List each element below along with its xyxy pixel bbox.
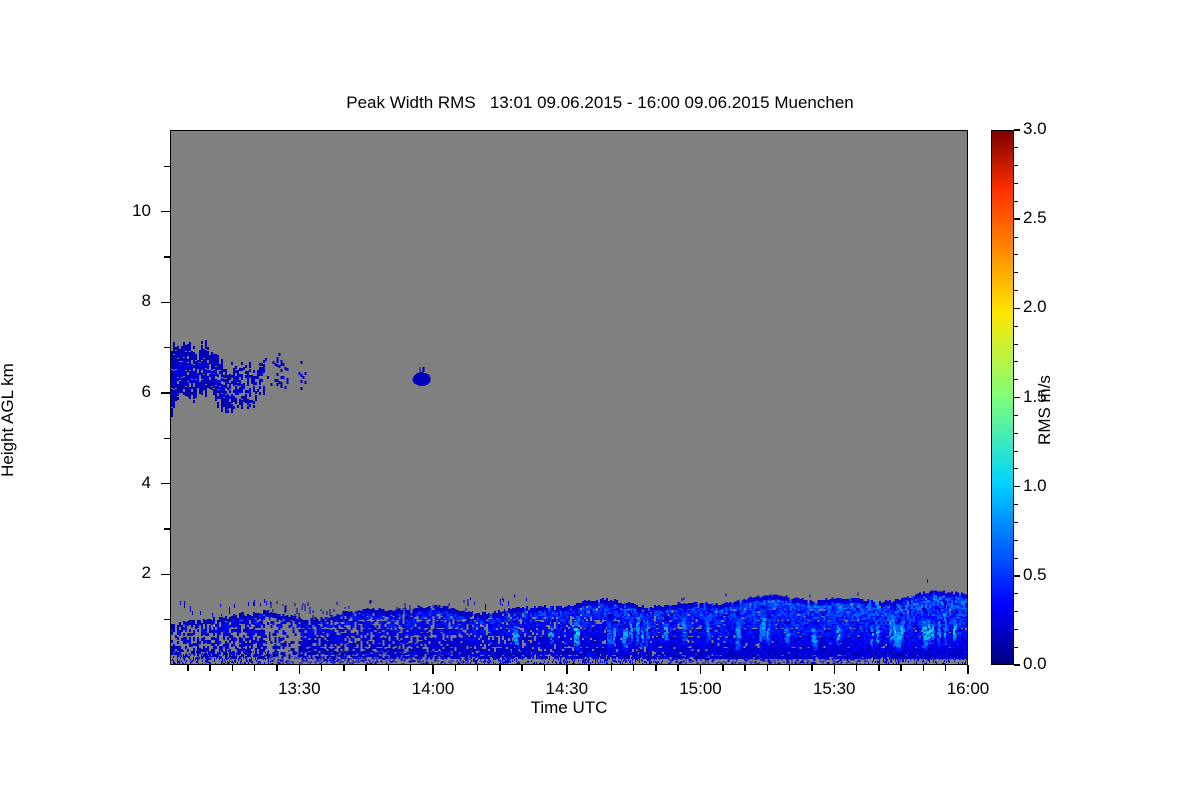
colorbar-minor-tick: [1014, 611, 1018, 612]
colorbar-minor-tick: [1014, 361, 1018, 362]
y-axis-minor-tick: [164, 166, 170, 168]
x-axis-tick-label: 14:00: [388, 679, 478, 699]
colorbar-tick-label: 3.0: [1023, 119, 1047, 139]
y-axis-tick: [161, 574, 170, 576]
colorbar-minor-tick: [1014, 183, 1018, 184]
x-axis-minor-tick: [789, 665, 791, 671]
colorbar-minor-tick: [1014, 290, 1018, 291]
y-axis-tick: [161, 302, 170, 304]
x-axis-tick-label: 13:30: [254, 679, 344, 699]
x-axis-minor-tick: [744, 665, 746, 671]
x-axis-tick-label: 14:30: [522, 679, 612, 699]
x-axis-tick-label: 15:30: [789, 679, 879, 699]
y-axis-tick: [161, 392, 170, 394]
x-axis-tick-label: 15:00: [656, 679, 746, 699]
y-axis-tick-label: 4: [91, 473, 151, 493]
colorbar-minor-tick: [1014, 344, 1018, 345]
colorbar-minor-tick: [1014, 522, 1018, 523]
x-axis-minor-tick: [521, 665, 523, 671]
colorbar-minor-tick: [1014, 147, 1018, 148]
colorbar-tick: [1014, 308, 1020, 310]
figure-canvas: Peak Width RMS 13:01 09.06.2015 - 16:00 …: [0, 0, 1200, 800]
x-axis-tick: [432, 665, 434, 674]
colorbar-tick: [1014, 129, 1020, 131]
colorbar-tick: [1014, 397, 1020, 399]
colorbar-minor-tick: [1014, 433, 1018, 434]
colorbar-minor-tick: [1014, 237, 1018, 238]
x-axis-minor-tick: [455, 665, 457, 671]
x-axis-minor-tick: [767, 665, 769, 671]
y-axis-minor-tick: [164, 528, 170, 530]
colorbar-tick: [1014, 575, 1020, 577]
x-axis-minor-tick: [187, 665, 189, 671]
colorbar: [991, 130, 1014, 665]
x-axis-tick: [700, 665, 702, 674]
x-axis-minor-tick: [477, 665, 479, 671]
y-axis-tick: [161, 483, 170, 485]
x-axis-tick: [834, 665, 836, 674]
y-axis-tick-label: 2: [91, 563, 151, 583]
x-axis-minor-tick: [276, 665, 278, 671]
x-axis-minor-tick: [633, 665, 635, 671]
colorbar-minor-tick: [1014, 593, 1018, 594]
x-axis-minor-tick: [410, 665, 412, 671]
y-axis-tick: [161, 211, 170, 213]
colorbar-minor-tick: [1014, 415, 1018, 416]
y-axis-tick-label: 10: [91, 201, 151, 221]
y-axis-title: Height AGL km: [0, 310, 18, 530]
y-axis-minor-tick: [164, 347, 170, 349]
colorbar-minor-tick: [1014, 558, 1018, 559]
colorbar-minor-tick: [1014, 629, 1018, 630]
x-axis-minor-tick: [254, 665, 256, 671]
colorbar-tick: [1014, 218, 1020, 220]
colorbar-minor-tick: [1014, 504, 1018, 505]
x-axis-minor-tick: [499, 665, 501, 671]
x-axis-minor-tick: [856, 665, 858, 671]
x-axis-tick: [967, 665, 969, 674]
colorbar-tick-label: 2.5: [1023, 208, 1047, 228]
y-axis-minor-tick: [164, 438, 170, 440]
y-axis-tick-label: 8: [91, 291, 151, 311]
x-axis-minor-tick: [365, 665, 367, 671]
x-axis-tick: [299, 665, 301, 674]
y-axis-minor-tick: [164, 256, 170, 258]
x-axis-minor-tick: [900, 665, 902, 671]
x-axis-minor-tick: [388, 665, 390, 671]
colorbar-title: RMS m/s: [1035, 330, 1055, 490]
x-axis-minor-tick: [722, 665, 724, 671]
y-axis-tick-label: 6: [91, 382, 151, 402]
x-axis-tick-label: 16:00: [923, 679, 1013, 699]
colorbar-minor-tick: [1014, 379, 1018, 380]
x-axis-minor-tick: [544, 665, 546, 671]
page-title: Peak Width RMS 13:01 09.06.2015 - 16:00 …: [0, 93, 1200, 113]
x-axis-minor-tick: [677, 665, 679, 671]
x-axis-minor-tick: [588, 665, 590, 671]
colorbar-tick-label: 2.0: [1023, 297, 1047, 317]
colorbar-tick: [1014, 486, 1020, 488]
x-axis-minor-tick: [209, 665, 211, 671]
heatmap-image: [171, 131, 967, 664]
x-axis-minor-tick: [343, 665, 345, 671]
colorbar-minor-tick: [1014, 451, 1018, 452]
x-axis-minor-tick: [945, 665, 947, 671]
x-axis-minor-tick: [321, 665, 323, 671]
colorbar-gradient: [992, 131, 1013, 664]
x-axis-minor-tick: [611, 665, 613, 671]
x-axis-tick: [566, 665, 568, 674]
x-axis-title: Time UTC: [170, 698, 968, 718]
colorbar-tick: [1014, 664, 1020, 666]
colorbar-minor-tick: [1014, 647, 1018, 648]
colorbar-minor-tick: [1014, 272, 1018, 273]
colorbar-minor-tick: [1014, 468, 1018, 469]
colorbar-minor-tick: [1014, 254, 1018, 255]
colorbar-minor-tick: [1014, 326, 1018, 327]
colorbar-tick-label: 0.0: [1023, 654, 1047, 674]
colorbar-minor-tick: [1014, 201, 1018, 202]
x-axis-minor-tick: [232, 665, 234, 671]
x-axis-minor-tick: [811, 665, 813, 671]
x-axis-minor-tick: [655, 665, 657, 671]
colorbar-minor-tick: [1014, 165, 1018, 166]
x-axis-minor-tick: [923, 665, 925, 671]
colorbar-minor-tick: [1014, 540, 1018, 541]
x-axis-minor-tick: [878, 665, 880, 671]
plot-area: [170, 130, 968, 665]
colorbar-tick-label: 0.5: [1023, 565, 1047, 585]
y-axis-minor-tick: [164, 619, 170, 621]
